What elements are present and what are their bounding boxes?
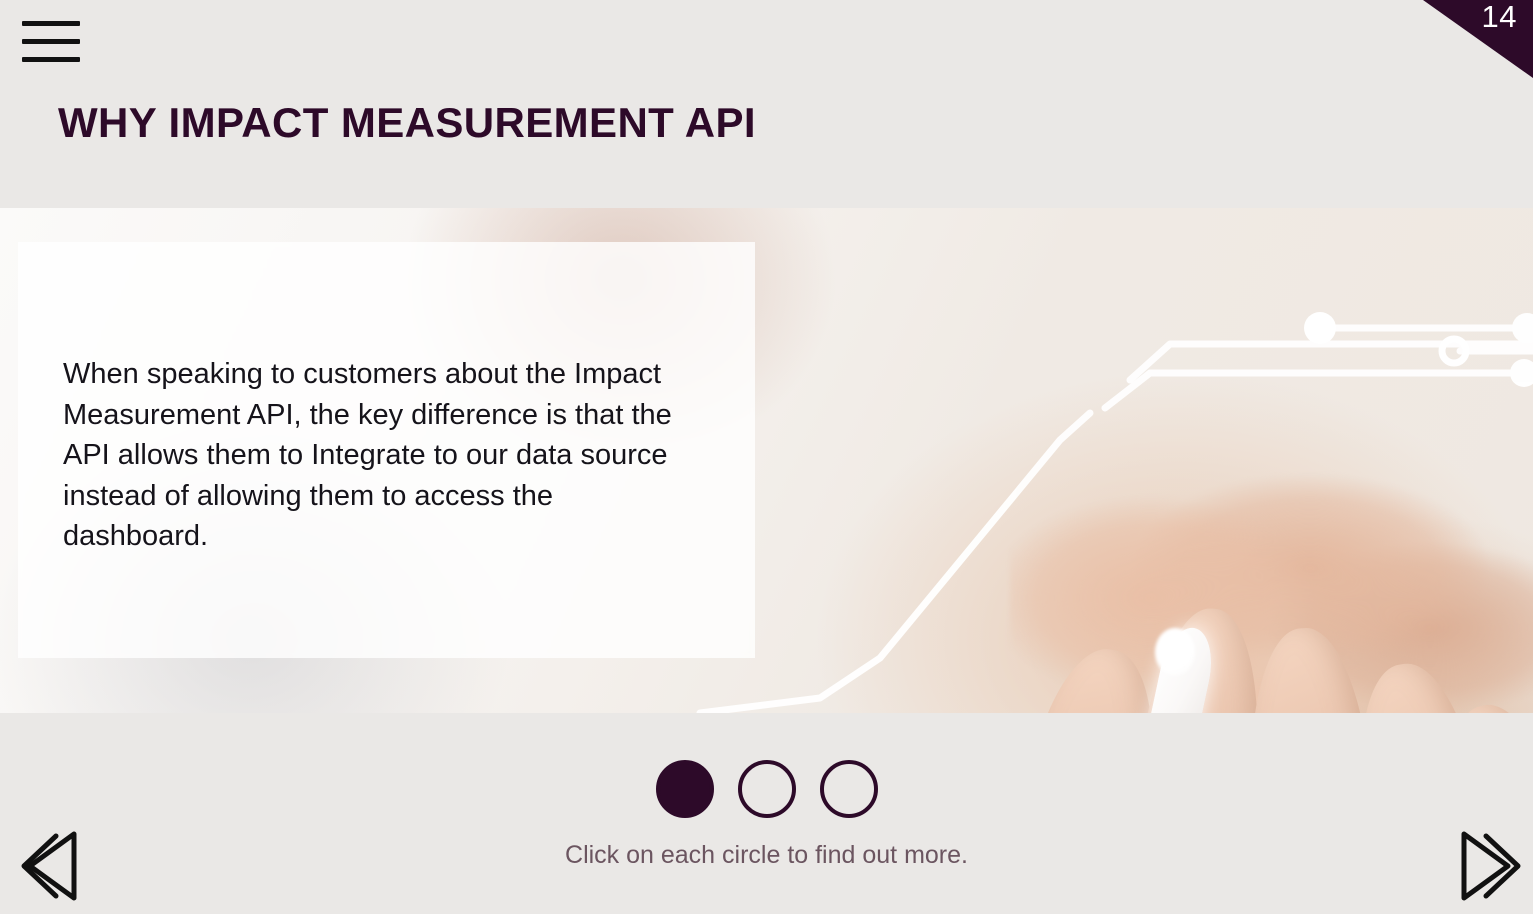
circle-nav-item-1[interactable] (656, 760, 714, 818)
double-chevron-right-icon (1442, 824, 1533, 908)
hero-image-band: When speaking to customers about the Imp… (0, 208, 1533, 713)
hamburger-bar-2 (22, 39, 80, 44)
hamburger-menu-icon[interactable] (22, 18, 80, 62)
text-panel: When speaking to customers about the Imp… (18, 242, 755, 658)
double-chevron-left-icon (12, 824, 104, 908)
circle-nav-group (0, 760, 1533, 818)
body-text: When speaking to customers about the Imp… (63, 354, 683, 557)
circle-nav-item-3[interactable] (820, 760, 878, 818)
hamburger-bar-3 (22, 57, 80, 62)
slide: WHY IMPACT MEASUREMENT API 14 (0, 0, 1533, 914)
instruction-text: Click on each circle to find out more. (0, 841, 1533, 870)
page-title: WHY IMPACT MEASUREMENT API (58, 100, 756, 146)
previous-slide-arrow-icon[interactable] (12, 824, 104, 908)
circle-nav-item-2[interactable] (738, 760, 796, 818)
stylus-tip-glow (1155, 628, 1195, 676)
hamburger-bar-1 (22, 21, 80, 26)
slide-header: WHY IMPACT MEASUREMENT API (0, 0, 1533, 208)
slide-footer (0, 713, 1533, 914)
next-slide-arrow-icon[interactable] (1442, 824, 1533, 908)
